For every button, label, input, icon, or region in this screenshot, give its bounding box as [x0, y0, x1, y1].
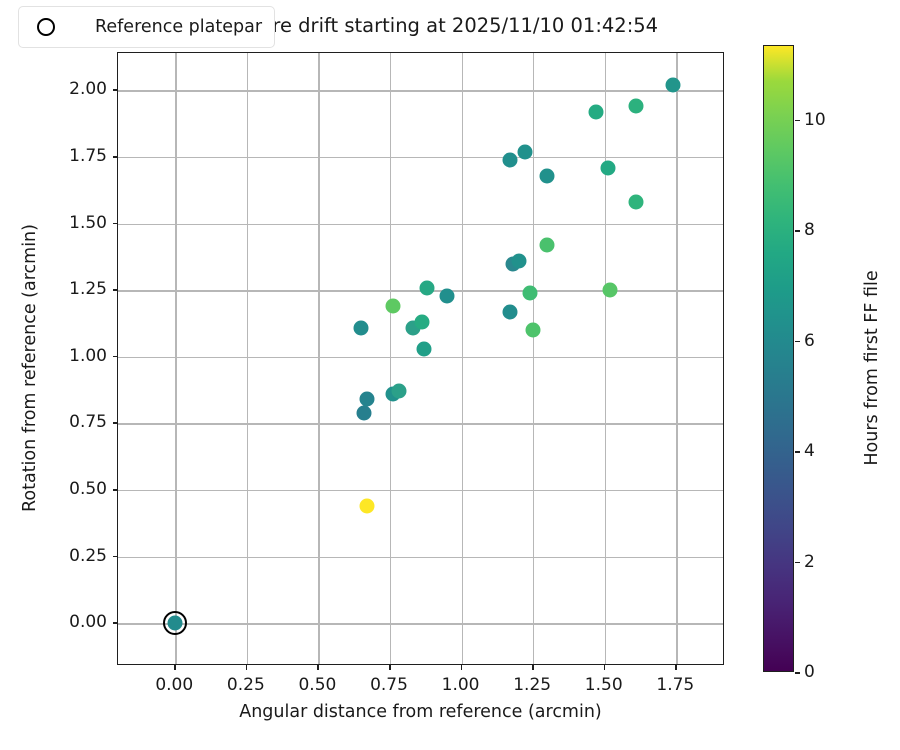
gridline-vertical	[175, 53, 176, 664]
colorbar-label: Hours from first FF file	[862, 208, 882, 528]
data-point[interactable]	[414, 315, 429, 330]
y-axis-tick	[113, 622, 118, 624]
y-axis-tick	[113, 556, 118, 558]
data-point[interactable]	[526, 323, 541, 338]
data-point[interactable]	[511, 253, 526, 268]
colorbar-tick	[795, 672, 800, 674]
data-point[interactable]	[360, 392, 375, 407]
data-point[interactable]	[503, 152, 518, 167]
y-axis-tick-label: 1.50	[55, 213, 107, 233]
gridline-vertical	[462, 53, 463, 664]
data-point[interactable]	[420, 280, 435, 295]
data-point[interactable]	[357, 405, 372, 420]
data-point[interactable]	[503, 304, 518, 319]
x-axis-tick	[174, 665, 176, 670]
gridline-horizontal	[118, 90, 723, 91]
y-axis-tick	[113, 289, 118, 291]
x-axis-label: Angular distance from reference (arcmin)	[117, 702, 724, 722]
gridline-vertical	[390, 53, 391, 664]
y-axis-tick-label: 1.25	[55, 279, 107, 299]
data-point[interactable]	[629, 195, 644, 210]
legend-entry-label: Reference platepar	[95, 17, 262, 37]
y-axis-tick-label: 1.00	[55, 346, 107, 366]
x-axis-tick	[604, 665, 606, 670]
y-axis-label: Rotation from reference (arcmin)	[20, 208, 40, 528]
gridline-vertical	[533, 53, 534, 664]
colorbar-tick	[795, 230, 800, 232]
x-axis-tick	[246, 665, 248, 670]
colorbar-tick	[795, 120, 800, 122]
data-point[interactable]	[589, 104, 604, 119]
x-axis-tick	[675, 665, 677, 670]
reference-platepar-ring-icon	[163, 611, 187, 635]
figure-canvas: FOV centre drift starting at 2025/11/10 …	[0, 0, 900, 750]
gridline-vertical	[318, 53, 319, 664]
y-axis-tick	[113, 422, 118, 424]
x-axis-tick-label: 0.50	[298, 675, 336, 695]
y-axis-tick	[113, 356, 118, 358]
gridline-horizontal	[118, 623, 723, 624]
y-axis-tick	[113, 489, 118, 491]
x-axis-tick-label: 1.00	[442, 675, 480, 695]
x-axis-tick-label: 0.25	[227, 675, 265, 695]
y-axis-tick-label: 2.00	[55, 79, 107, 99]
colorbar-tick-label: 6	[804, 331, 815, 351]
data-point[interactable]	[603, 283, 618, 298]
x-axis-tick-label: 1.25	[513, 675, 551, 695]
plot-axes[interactable]	[117, 52, 724, 665]
x-axis-tick-label: 0.00	[155, 675, 193, 695]
colorbar[interactable]	[763, 45, 794, 672]
data-point[interactable]	[629, 99, 644, 114]
y-axis-tick-label: 1.75	[55, 146, 107, 166]
gridline-vertical	[676, 53, 677, 664]
y-axis-tick-label: 0.50	[55, 479, 107, 499]
legend-marker-open-circle-icon	[37, 18, 55, 36]
colorbar-tick-label: 10	[804, 110, 826, 130]
x-axis-tick	[389, 665, 391, 670]
colorbar-tick-label: 0	[804, 662, 815, 682]
colorbar-tick-label: 4	[804, 441, 815, 461]
gridline-vertical	[247, 53, 248, 664]
data-point[interactable]	[517, 144, 532, 159]
x-axis-tick	[461, 665, 463, 670]
data-point[interactable]	[360, 499, 375, 514]
y-axis-tick	[113, 89, 118, 91]
y-axis-tick-label: 0.00	[55, 612, 107, 632]
x-axis-tick-label: 1.75	[656, 675, 694, 695]
data-point[interactable]	[600, 160, 615, 175]
legend-box[interactable]: Reference platepar	[18, 6, 275, 48]
colorbar-tick-label: 2	[804, 552, 815, 572]
x-axis-tick-label: 1.50	[585, 675, 623, 695]
y-axis-tick	[113, 156, 118, 158]
colorbar-tick-label: 8	[804, 220, 815, 240]
gridline-horizontal	[118, 357, 723, 358]
y-axis-tick-label: 0.25	[55, 546, 107, 566]
y-axis-tick-label: 0.75	[55, 412, 107, 432]
gridline-horizontal	[118, 557, 723, 558]
colorbar-tick	[795, 562, 800, 564]
data-point[interactable]	[540, 237, 555, 252]
gridline-horizontal	[118, 224, 723, 225]
data-point[interactable]	[417, 341, 432, 356]
data-point[interactable]	[354, 320, 369, 335]
data-point[interactable]	[523, 285, 538, 300]
data-point[interactable]	[391, 384, 406, 399]
x-axis-tick	[317, 665, 319, 670]
gridline-vertical	[605, 53, 606, 664]
y-axis-tick	[113, 223, 118, 225]
data-point[interactable]	[385, 299, 400, 314]
data-point[interactable]	[540, 168, 555, 183]
data-point[interactable]	[666, 77, 681, 92]
x-axis-tick	[532, 665, 534, 670]
colorbar-tick	[795, 451, 800, 453]
x-axis-tick-label: 0.75	[370, 675, 408, 695]
gridline-horizontal	[118, 157, 723, 158]
data-point[interactable]	[440, 288, 455, 303]
colorbar-tick	[795, 341, 800, 343]
gridline-horizontal	[118, 490, 723, 491]
gridline-horizontal	[118, 423, 723, 424]
